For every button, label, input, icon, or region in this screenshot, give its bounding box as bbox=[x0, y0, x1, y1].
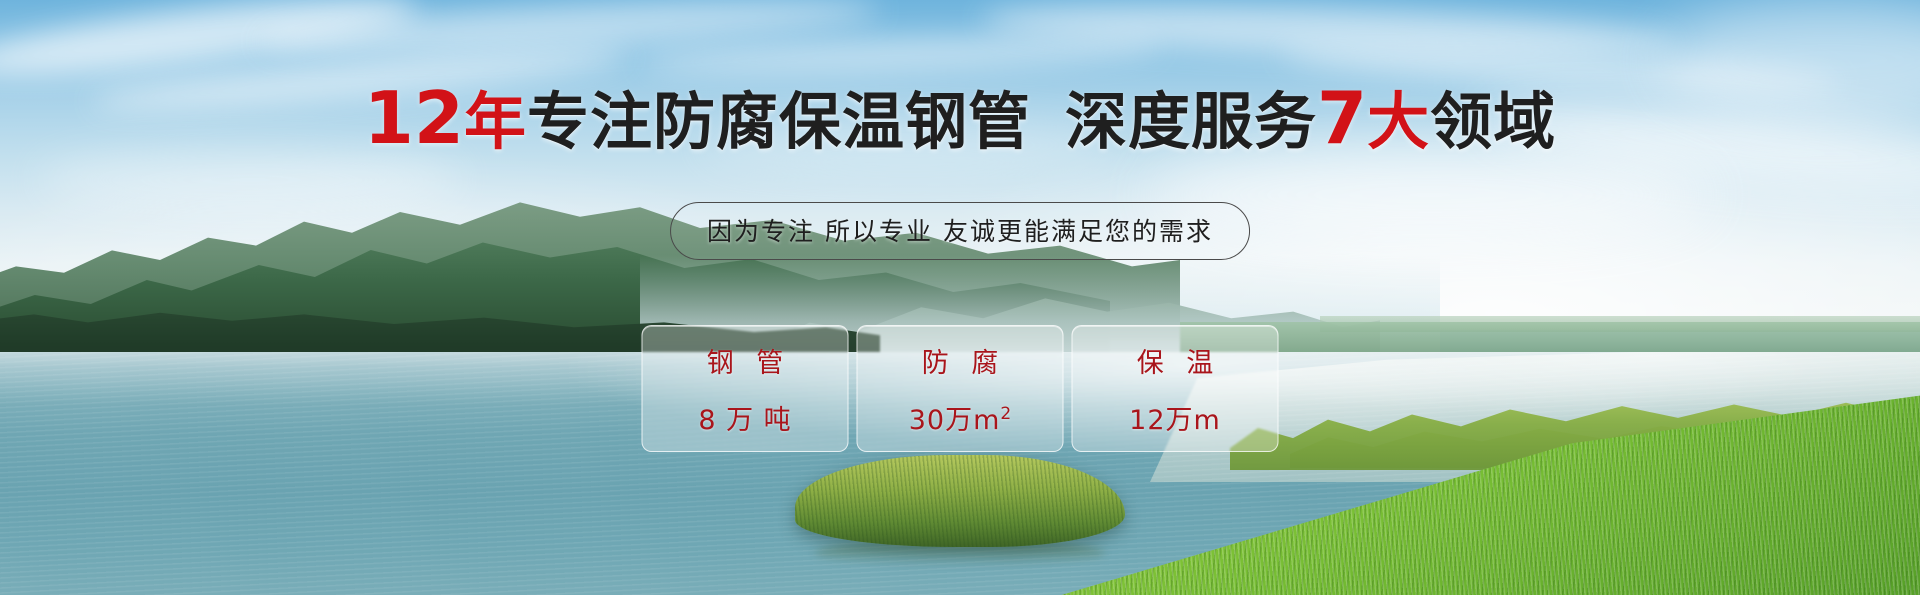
stat-card-value: 8 万 吨 bbox=[698, 398, 791, 437]
headline-years-number: 12 bbox=[364, 76, 464, 160]
headline-main-text: 专注防腐保温钢管 bbox=[527, 85, 1031, 158]
stat-card-title: 保 温 bbox=[1130, 341, 1221, 380]
headline-second-text: 深度服务 bbox=[1065, 85, 1317, 158]
stat-card-insulation: 保 温 12万m bbox=[1072, 325, 1279, 452]
stat-card-group: 钢 管 8 万 吨 防 腐 30万m2 保 温 12万m bbox=[642, 325, 1279, 452]
headline-seven-unit: 大 bbox=[1367, 85, 1430, 158]
banner-content: 12年专注防腐保温钢管深度服务7大领域 因为专注 所以专业 友诚更能满足您的需求… bbox=[0, 0, 1920, 595]
banner-subtitle-pill: 因为专注 所以专业 友诚更能满足您的需求 bbox=[670, 202, 1250, 260]
stat-card-title: 防 腐 bbox=[915, 341, 1006, 380]
banner-headline: 12年专注防腐保温钢管深度服务7大领域 bbox=[0, 82, 1920, 154]
hero-banner: 12年专注防腐保温钢管深度服务7大领域 因为专注 所以专业 友诚更能满足您的需求… bbox=[0, 0, 1920, 595]
stat-card-title: 钢 管 bbox=[700, 341, 791, 380]
headline-years-unit: 年 bbox=[464, 85, 527, 158]
stat-card-value: 12万m bbox=[1129, 398, 1221, 437]
stat-card-value-text: 8 万 吨 bbox=[698, 405, 791, 436]
stat-card-steel-pipe: 钢 管 8 万 吨 bbox=[642, 325, 849, 452]
stat-card-value-text: 30万m bbox=[909, 405, 1001, 436]
stat-card-value-text: 12万m bbox=[1129, 405, 1221, 436]
headline-seven-number: 7 bbox=[1317, 76, 1367, 160]
stat-card-value-superscript: 2 bbox=[1000, 404, 1011, 424]
stat-card-value: 30万m2 bbox=[909, 398, 1012, 437]
stat-card-anticorrosion: 防 腐 30万m2 bbox=[857, 325, 1064, 452]
headline-tail-text: 领域 bbox=[1430, 85, 1556, 158]
